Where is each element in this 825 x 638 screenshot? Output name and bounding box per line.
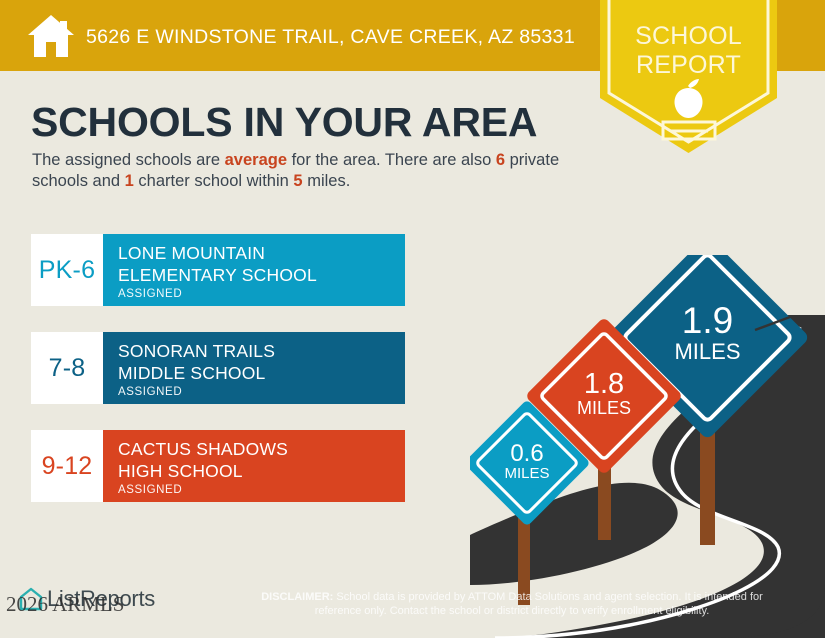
subtitle-part-4: charter school within <box>134 172 294 190</box>
subtitle-highlight-rating: average <box>225 151 287 169</box>
disclaimer-text: School data is provided by ATTOM Data So… <box>315 591 763 617</box>
school-info: LONE MOUNTAIN ELEMENTARY SCHOOL ASSIGNED <box>103 234 405 306</box>
page-title: SCHOOLS IN YOUR AREA <box>31 99 537 146</box>
disclaimer: DISCLAIMER: School data is provided by A… <box>238 590 786 618</box>
badge-label: SCHOOL REPORT <box>600 22 777 80</box>
school-status: ASSIGNED <box>118 288 405 300</box>
sign-unit: MILES <box>504 465 549 482</box>
sign-distance: 1.8 <box>584 368 624 400</box>
subtitle-highlight-charter-count: 1 <box>125 172 134 190</box>
sign-post <box>700 420 715 545</box>
school-status: ASSIGNED <box>118 386 405 398</box>
school-status: ASSIGNED <box>118 484 405 496</box>
school-row[interactable]: 7-8 SONORAN TRAILS MIDDLE SCHOOL ASSIGNE… <box>31 332 405 404</box>
school-info: CACTUS SHADOWS HIGH SCHOOL ASSIGNED <box>103 430 405 502</box>
property-address: 5626 E WINDSTONE TRAIL, CAVE CREEK, AZ 8… <box>86 26 575 49</box>
subtitle-part-1: The assigned schools are <box>32 151 225 169</box>
school-name: CACTUS SHADOWS HIGH SCHOOL <box>118 439 405 482</box>
subtitle-highlight-radius: 5 <box>293 172 302 190</box>
school-report-infographic: 5626 E WINDSTONE TRAIL, CAVE CREEK, AZ 8… <box>0 0 825 638</box>
school-row[interactable]: PK-6 LONE MOUNTAIN ELEMENTARY SCHOOL ASS… <box>31 234 405 306</box>
sign-distance: 1.9 <box>682 300 733 341</box>
road-scene-illustration: 1.9 MILES 1.8 MILES <box>470 255 825 638</box>
school-report-badge: SCHOOL REPORT <box>600 0 777 153</box>
school-name: SONORAN TRAILS MIDDLE SCHOOL <box>118 341 405 384</box>
subtitle-highlight-private-count: 6 <box>496 151 505 169</box>
subtitle: The assigned schools are average for the… <box>32 150 577 192</box>
grade-badge: PK-6 <box>31 234 103 306</box>
school-name: LONE MOUNTAIN ELEMENTARY SCHOOL <box>118 243 405 286</box>
subtitle-part-2: for the area. There are also <box>287 151 496 169</box>
school-row[interactable]: 9-12 CACTUS SHADOWS HIGH SCHOOL ASSIGNED <box>31 430 405 502</box>
sign-unit: MILES <box>577 398 631 418</box>
mls-watermark: 2026 ARMLS <box>6 592 124 617</box>
sign-unit: MILES <box>674 339 740 364</box>
school-info: SONORAN TRAILS MIDDLE SCHOOL ASSIGNED <box>103 332 405 404</box>
disclaimer-label: DISCLAIMER: <box>261 591 333 603</box>
badge-line-1: SCHOOL <box>600 22 777 51</box>
sign-distance: 0.6 <box>510 440 543 467</box>
subtitle-part-5: miles. <box>303 172 351 190</box>
house-icon <box>26 13 76 59</box>
grade-badge: 7-8 <box>31 332 103 404</box>
badge-line-2: REPORT <box>600 51 777 80</box>
grade-badge: 9-12 <box>31 430 103 502</box>
